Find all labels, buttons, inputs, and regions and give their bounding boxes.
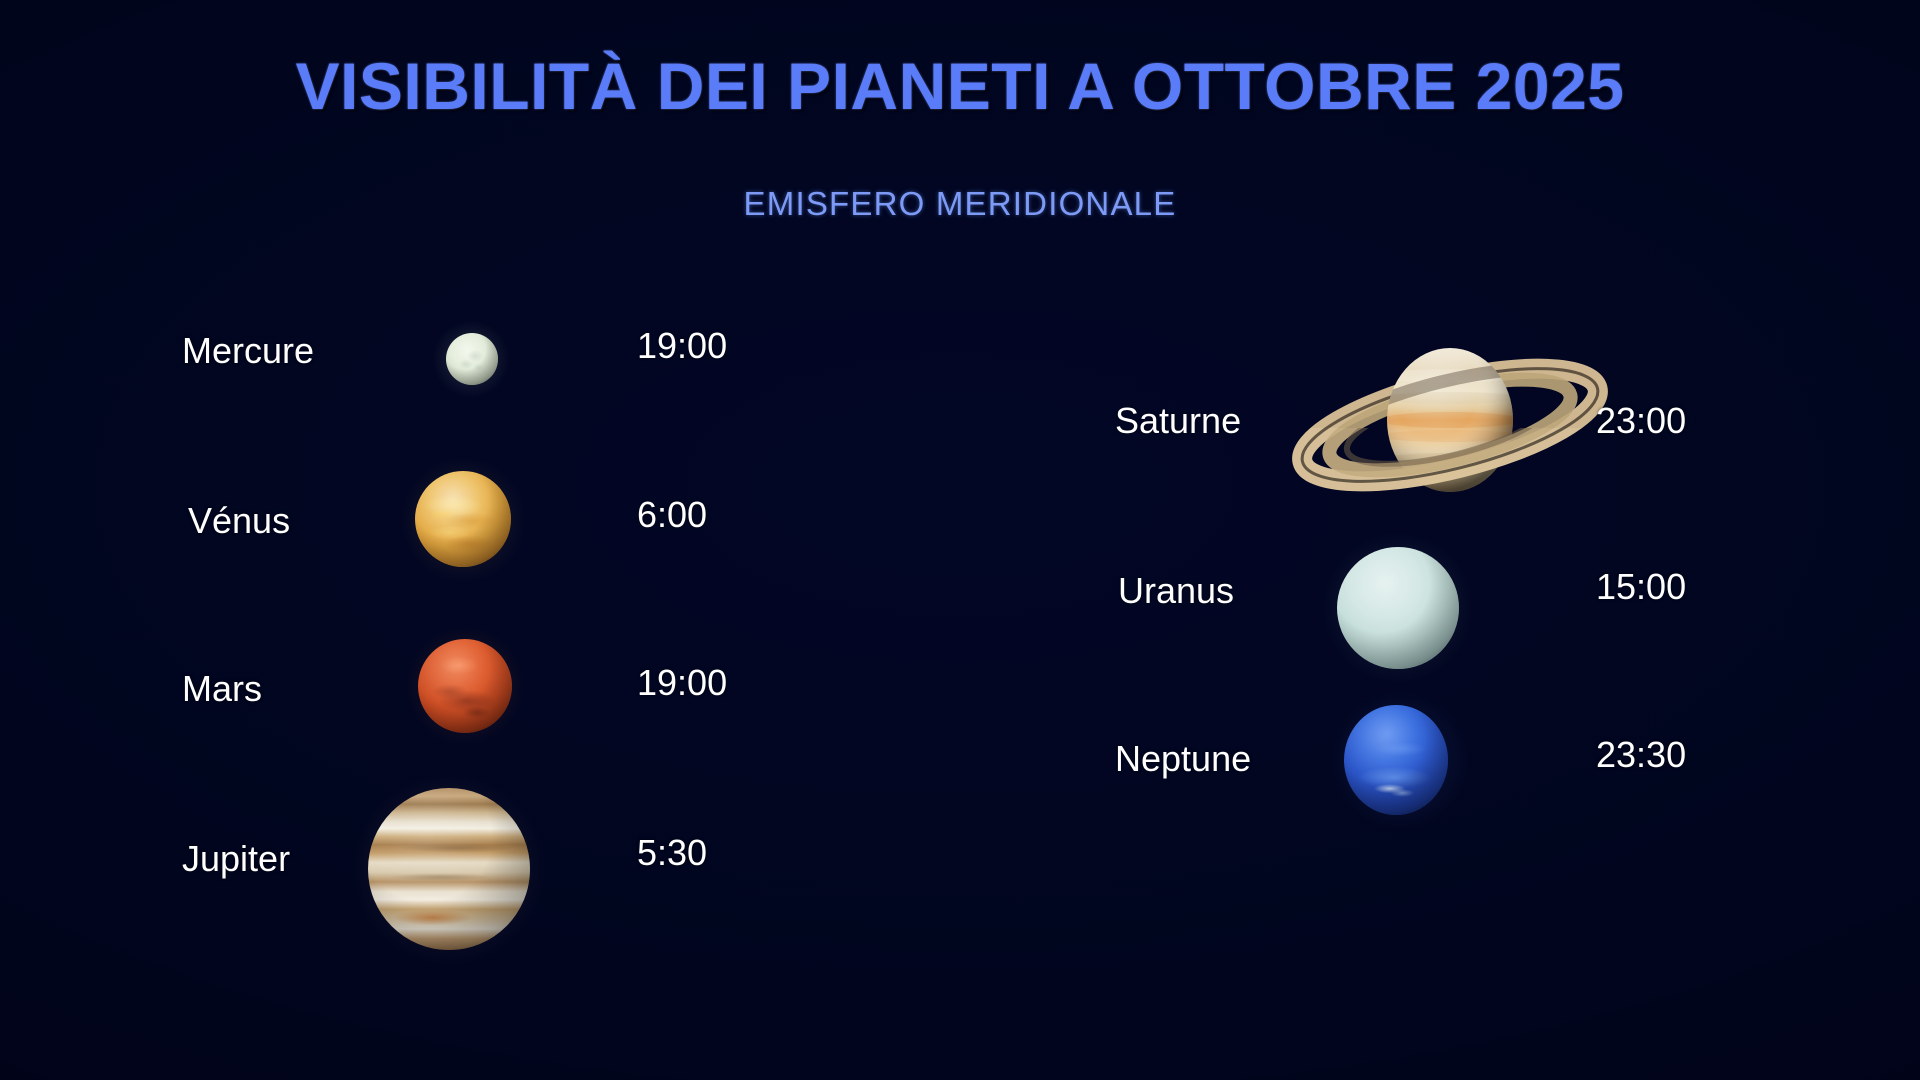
planet-label-mercure: Mercure (182, 330, 314, 372)
planet-label-venus: Vénus (188, 500, 290, 542)
planet-time-mars: 19:00 (637, 662, 727, 704)
planet-label-saturne: Saturne (1115, 400, 1241, 442)
planet-time-mercure: 19:00 (637, 325, 727, 367)
uranus-sphere (1337, 547, 1459, 669)
planet-time-saturne: 23:00 (1596, 400, 1686, 442)
slide-canvas: VISIBILITÀ DEI PIANETI A OTTOBRE 2025 EM… (0, 0, 1920, 1080)
planet-time-jupiter: 5:30 (637, 832, 707, 874)
venus-sphere (415, 471, 511, 567)
jupiter-limb-shading (368, 788, 530, 950)
venus-texture (415, 471, 511, 567)
saturn-graphic (1285, 320, 1615, 520)
neptune-sphere (1344, 705, 1448, 815)
planet-label-jupiter: Jupiter (182, 838, 290, 880)
jupiter-sphere (368, 788, 530, 950)
mercury-sphere (446, 333, 498, 385)
planet-label-mars: Mars (182, 668, 262, 710)
planet-label-neptune: Neptune (1115, 738, 1251, 780)
neptune-texture (1344, 705, 1448, 815)
planet-label-uranus: Uranus (1118, 570, 1234, 612)
planet-time-uranus: 15:00 (1596, 566, 1686, 608)
planet-time-venus: 6:00 (637, 494, 707, 536)
mars-texture (418, 639, 512, 733)
page-subtitle: EMISFERO MERIDIONALE (0, 185, 1920, 223)
mars-sphere (418, 639, 512, 733)
page-title: VISIBILITÀ DEI PIANETI A OTTOBRE 2025 (0, 48, 1920, 124)
planet-time-neptune: 23:30 (1596, 734, 1686, 776)
mercury-texture (446, 333, 498, 385)
